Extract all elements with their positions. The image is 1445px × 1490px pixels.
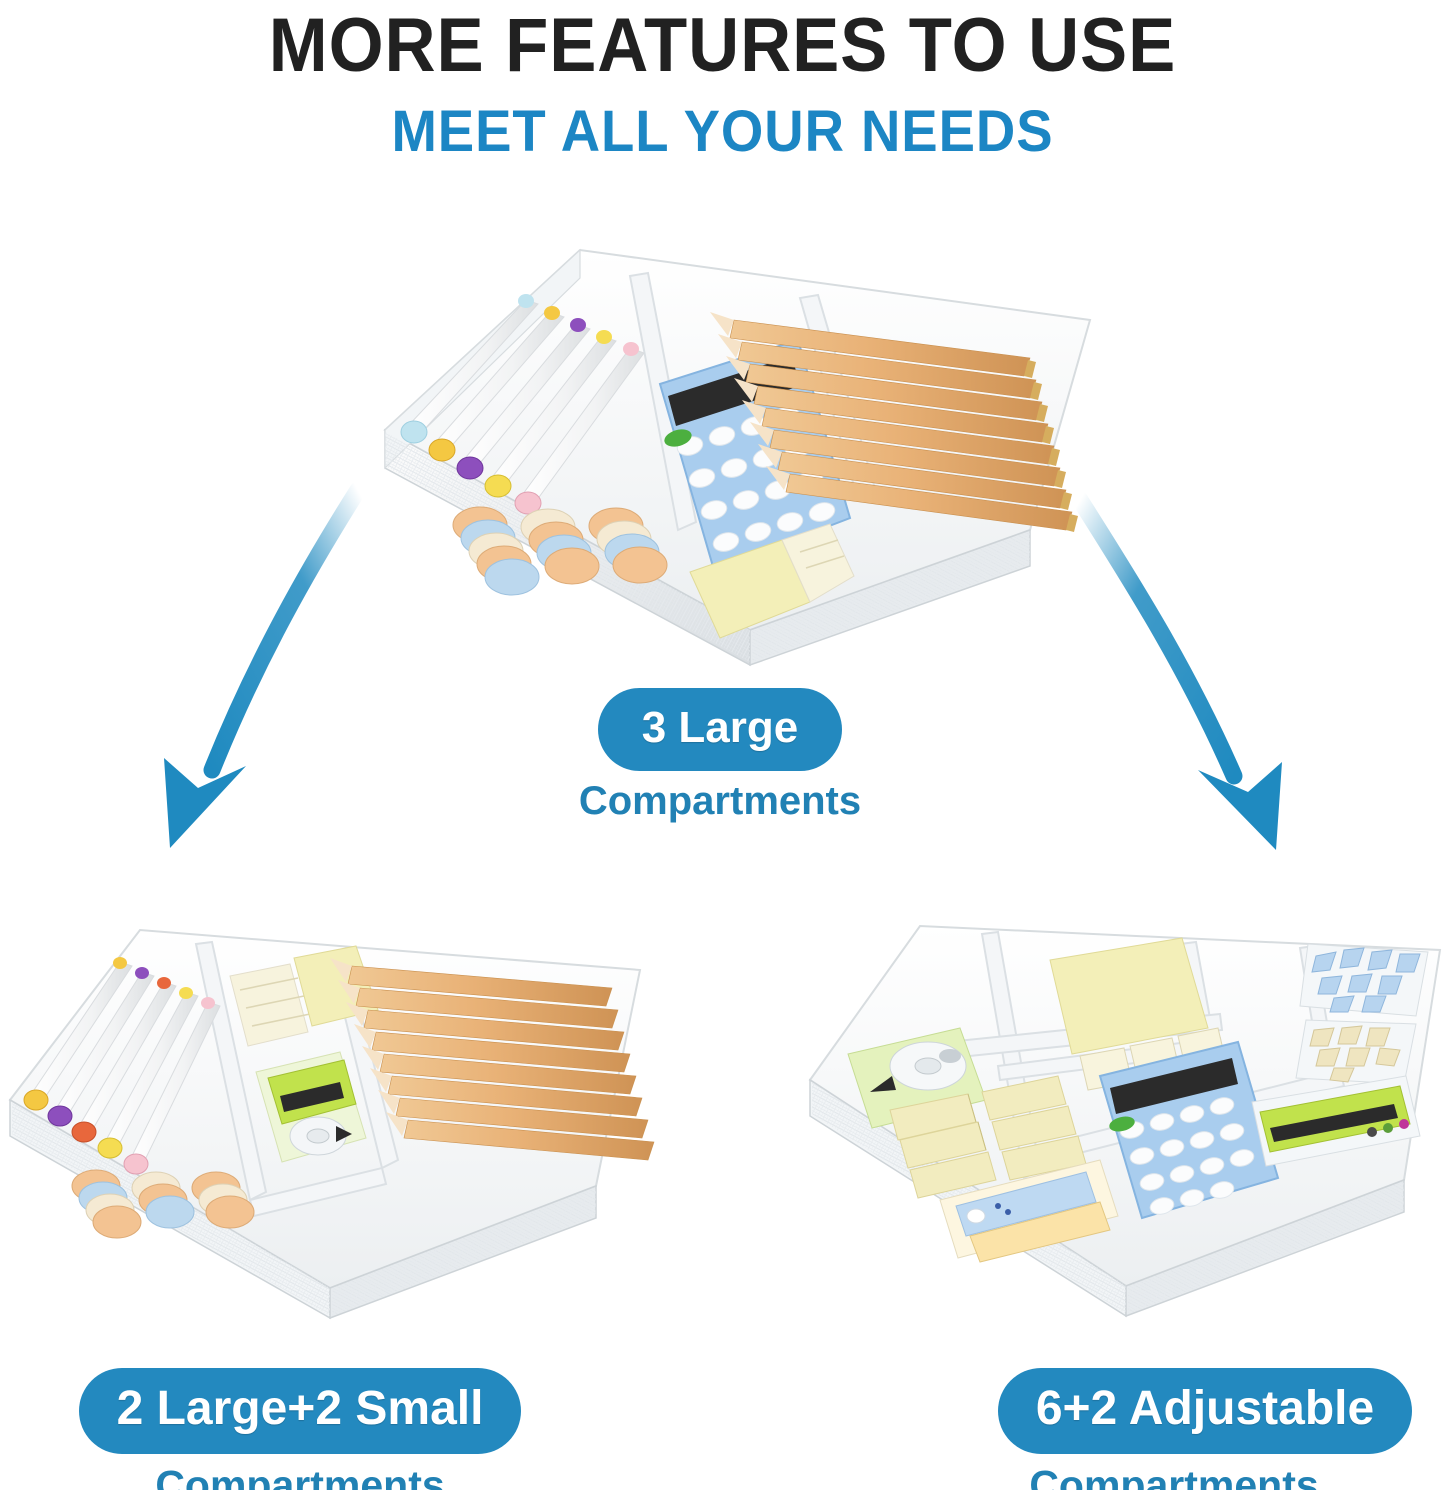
infographic-page: MORE FEATURES TO USE MEET ALL YOUR NEEDS	[0, 0, 1445, 1490]
right-arrow	[1000, 470, 1360, 850]
compartment-cream-clips	[1296, 1020, 1416, 1084]
washi-tape-rolls	[72, 1170, 254, 1238]
page-title: MORE FEATURES TO USE	[51, 2, 1395, 89]
badge-3-large: 3 Large Compartments	[465, 688, 975, 824]
washi-tape-rolls	[453, 507, 667, 595]
badge-6-plus-2-adjustable-caption: Compartments	[843, 1462, 1445, 1490]
product-image-6-plus-2-adjustable	[800, 900, 1445, 1320]
badge-2-large-2-small-pill: 2 Large+2 Small	[79, 1368, 522, 1454]
compartment-blue-clips	[1300, 944, 1428, 1016]
badge-3-large-pill: 3 Large	[598, 688, 843, 771]
badge-2-large-2-small-caption: Compartments	[0, 1462, 600, 1490]
badge-2-large-2-small: 2 Large+2 Small Compartments	[0, 1368, 600, 1490]
product-image-2-large-2-small	[0, 900, 680, 1320]
badge-6-plus-2-adjustable-pill: 6+2 Adjustable	[998, 1368, 1412, 1454]
left-arrow	[120, 470, 480, 850]
badge-3-large-caption: Compartments	[465, 779, 975, 824]
page-subtitle: MEET ALL YOUR NEEDS	[43, 98, 1401, 165]
badge-6-plus-2-adjustable: 6+2 Adjustable Compartments	[905, 1368, 1445, 1490]
